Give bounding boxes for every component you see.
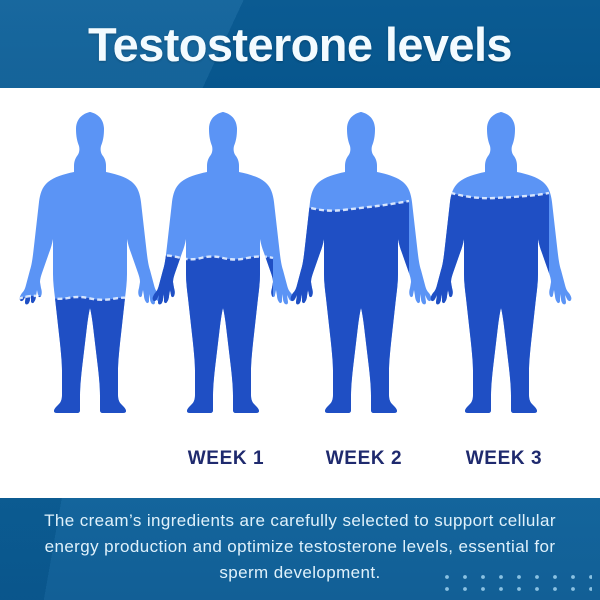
week-label-3: WEEK 3	[429, 448, 579, 470]
figures-area: WEEK 1 WEEK 2 WEEK 3	[0, 88, 600, 498]
dot-grid-decoration	[442, 569, 592, 595]
body-figure-week-1	[151, 106, 301, 436]
page-title: Testosterone levels	[88, 21, 512, 68]
footer-band: The cream’s ingredients are carefully se…	[0, 498, 600, 600]
infographic-root: Testosterone levels	[0, 0, 600, 600]
body-figure-week-3	[429, 106, 579, 436]
body-silhouette-icon	[429, 106, 579, 436]
body-figure-baseline	[18, 106, 168, 436]
week-label-1: WEEK 1	[151, 448, 301, 470]
body-figure-week-2	[289, 106, 439, 436]
body-silhouette-icon	[151, 106, 301, 436]
body-silhouette-icon	[18, 106, 168, 436]
body-silhouette-icon	[289, 106, 439, 436]
week-label-2: WEEK 2	[289, 448, 439, 470]
header-band: Testosterone levels	[0, 0, 600, 88]
